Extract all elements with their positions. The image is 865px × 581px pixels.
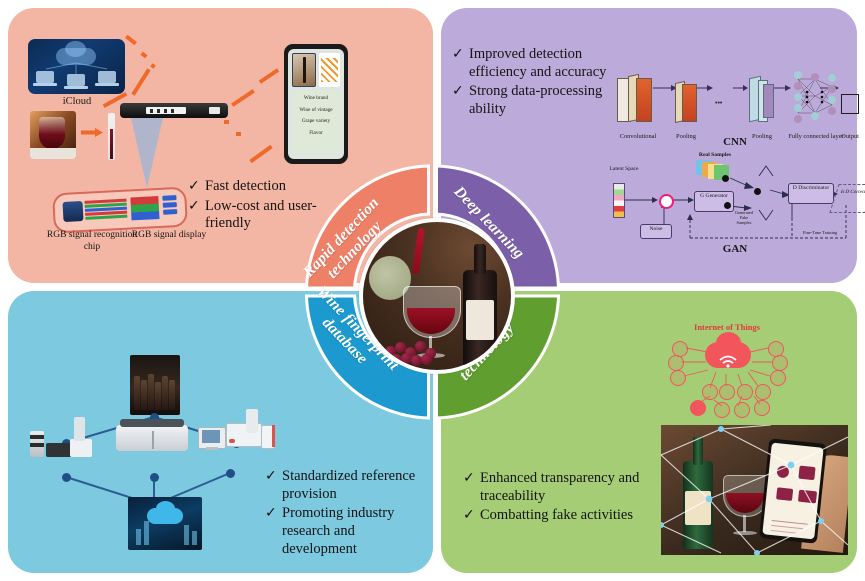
wine-sample-photo	[30, 111, 76, 159]
rgb-bars	[162, 195, 177, 219]
cnn-stage-label: Output	[831, 133, 865, 140]
gan-real-samples-label: Real Samples	[692, 152, 738, 158]
cnn-diagram: Convolutional Pooling ••• Pooling	[615, 42, 860, 150]
network-node	[150, 473, 159, 482]
scanner-end-cap	[209, 107, 220, 114]
bullets-wine-fingerprint: ✓ Standardized reference provision ✓ Pro…	[265, 468, 430, 560]
cnn-ellipsis: •••	[715, 99, 722, 107]
bullet-item: ✓ Improved detection efficiency and accu…	[452, 46, 632, 81]
instrument-gc-workstation	[198, 411, 276, 457]
icloud-image	[28, 39, 125, 94]
phone-result-item: Wine brand	[293, 95, 339, 101]
cnn-pooling-layer-2	[749, 80, 773, 122]
iot-node-icon	[770, 370, 786, 386]
rgb-chip-label: RGB signal recognition chip	[46, 230, 138, 254]
scanner-light-beam	[131, 118, 163, 188]
smartphone-result-screen[interactable]: Wine brand Wine of vintage Grape variety…	[284, 44, 348, 164]
check-icon: ✓	[265, 468, 282, 485]
gan-latent-space-label: Latent Space	[608, 166, 640, 172]
test-strip-icon	[108, 113, 115, 160]
fingerprint-network-diagram	[30, 355, 290, 555]
iot-node-icon	[755, 384, 771, 400]
internet-of-things-graphic: Internet of Things	[662, 322, 792, 422]
bullet-item: ✓ Combatting fake activities	[463, 507, 648, 525]
bullet-item: ✓ Enhanced transparency and traceability	[463, 470, 648, 505]
bullets-blockchain: ✓ Enhanced transparency and traceability…	[463, 470, 648, 527]
bullet-text: Enhanced transparency and traceability	[480, 470, 648, 505]
chemical-structure-thumbnail	[319, 53, 341, 87]
chip-sensor	[63, 201, 84, 222]
bullet-text: Strong data-processing ability	[469, 83, 632, 118]
phone-result-item: Wine of vintage	[293, 107, 339, 113]
iot-node-icon	[772, 355, 788, 371]
check-icon: ✓	[452, 46, 469, 63]
cloud-database-photo	[128, 497, 202, 550]
cnn-input-layer	[617, 78, 651, 122]
check-icon: ✓	[188, 198, 205, 215]
table-cloth-shape	[30, 148, 76, 159]
cnn-stage-label: Convolutional	[609, 133, 667, 140]
figure-root: iCloud	[0, 0, 865, 581]
bullets-deep-learning: ✓ Improved detection efficiency and accu…	[452, 46, 632, 121]
iot-node-icon	[719, 384, 735, 400]
latent-space-bar	[613, 183, 625, 218]
gan-junction-dot	[754, 188, 761, 195]
iot-node-icon	[754, 400, 770, 416]
gan-title: GAN	[700, 243, 770, 255]
wine-bottles-photo	[130, 355, 180, 415]
phone-result-list: Wine brand Wine of vintage Grape variety…	[293, 91, 339, 153]
rgb-display-block	[130, 196, 159, 220]
bullet-text: Standardized reference provision	[282, 468, 430, 503]
phone-screen: Wine brand Wine of vintage Grape variety…	[288, 49, 344, 159]
bullet-item: ✓ Promoting industry research and develo…	[265, 505, 430, 558]
center-wheel: Rapid detection technology Deep learning…	[291, 162, 574, 422]
gan-junction-dot	[724, 202, 731, 209]
bottle-label-shape	[466, 300, 494, 340]
bullet-text: Combatting fake activities	[480, 507, 648, 525]
check-icon: ✓	[463, 507, 480, 524]
check-icon: ✓	[463, 470, 480, 487]
bullet-text: Improved detection efficiency and accura…	[469, 46, 632, 81]
gan-junction-dot	[722, 175, 729, 182]
network-node	[62, 473, 71, 482]
bottle-thumbnail	[292, 53, 316, 87]
cloud-icon	[147, 508, 183, 524]
cnn-fully-connected-net	[791, 70, 839, 128]
blockchain-traceability-photo	[661, 425, 848, 555]
cnn-output-box	[841, 94, 859, 114]
cnn-title: CNN	[700, 136, 770, 148]
gan-diagram: Latent Space Noise G Generator Generated…	[596, 150, 860, 245]
chip-signal-lines	[84, 199, 127, 222]
iot-node-icon	[690, 400, 706, 416]
iot-node-icon	[714, 402, 730, 418]
phone-result-item: Flavor	[293, 130, 339, 136]
phone-top-images	[292, 53, 340, 87]
gan-generated-label: Generated Fake Samples	[733, 210, 755, 225]
blockchain-mesh-overlay	[661, 425, 848, 555]
bullet-text: Promoting industry research and developm…	[282, 505, 430, 558]
scanner-window	[146, 107, 186, 114]
wine-glass-shape	[39, 117, 65, 149]
iot-node-icon	[668, 355, 684, 371]
iot-node-icon	[702, 384, 718, 400]
connector-dash	[236, 132, 241, 136]
gan-noise-box: Noise	[640, 224, 672, 239]
iot-node-icon	[670, 370, 686, 386]
bullet-item: ✓ Strong data-processing ability	[452, 83, 632, 118]
red-grapes-shape	[383, 338, 445, 364]
orange-arrow-icon	[81, 128, 103, 137]
iot-node-icon	[737, 384, 753, 400]
center-wine-photo	[359, 218, 515, 374]
wine-bottle-shape	[463, 270, 497, 366]
scanner-device	[120, 103, 228, 118]
iot-node-icon	[734, 402, 750, 418]
check-icon: ✓	[188, 178, 205, 195]
instrument-spectrometer	[116, 417, 188, 455]
connector-dash	[224, 120, 229, 124]
bullet-item: ✓ Standardized reference provision	[265, 468, 430, 503]
instrument-chromatograph	[30, 419, 92, 459]
check-icon: ✓	[452, 83, 469, 100]
rgb-signal-chip	[52, 187, 188, 234]
check-icon: ✓	[265, 505, 282, 522]
network-node	[226, 469, 235, 478]
gan-discriminator-box: D Discriminator	[788, 183, 834, 204]
gan-fine-tune-label: Fine-Tune Training	[792, 230, 848, 235]
gan-merge-node	[659, 194, 674, 209]
cnn-pooling-layer-1	[675, 84, 697, 122]
phone-result-item: Grape variety	[293, 118, 339, 124]
